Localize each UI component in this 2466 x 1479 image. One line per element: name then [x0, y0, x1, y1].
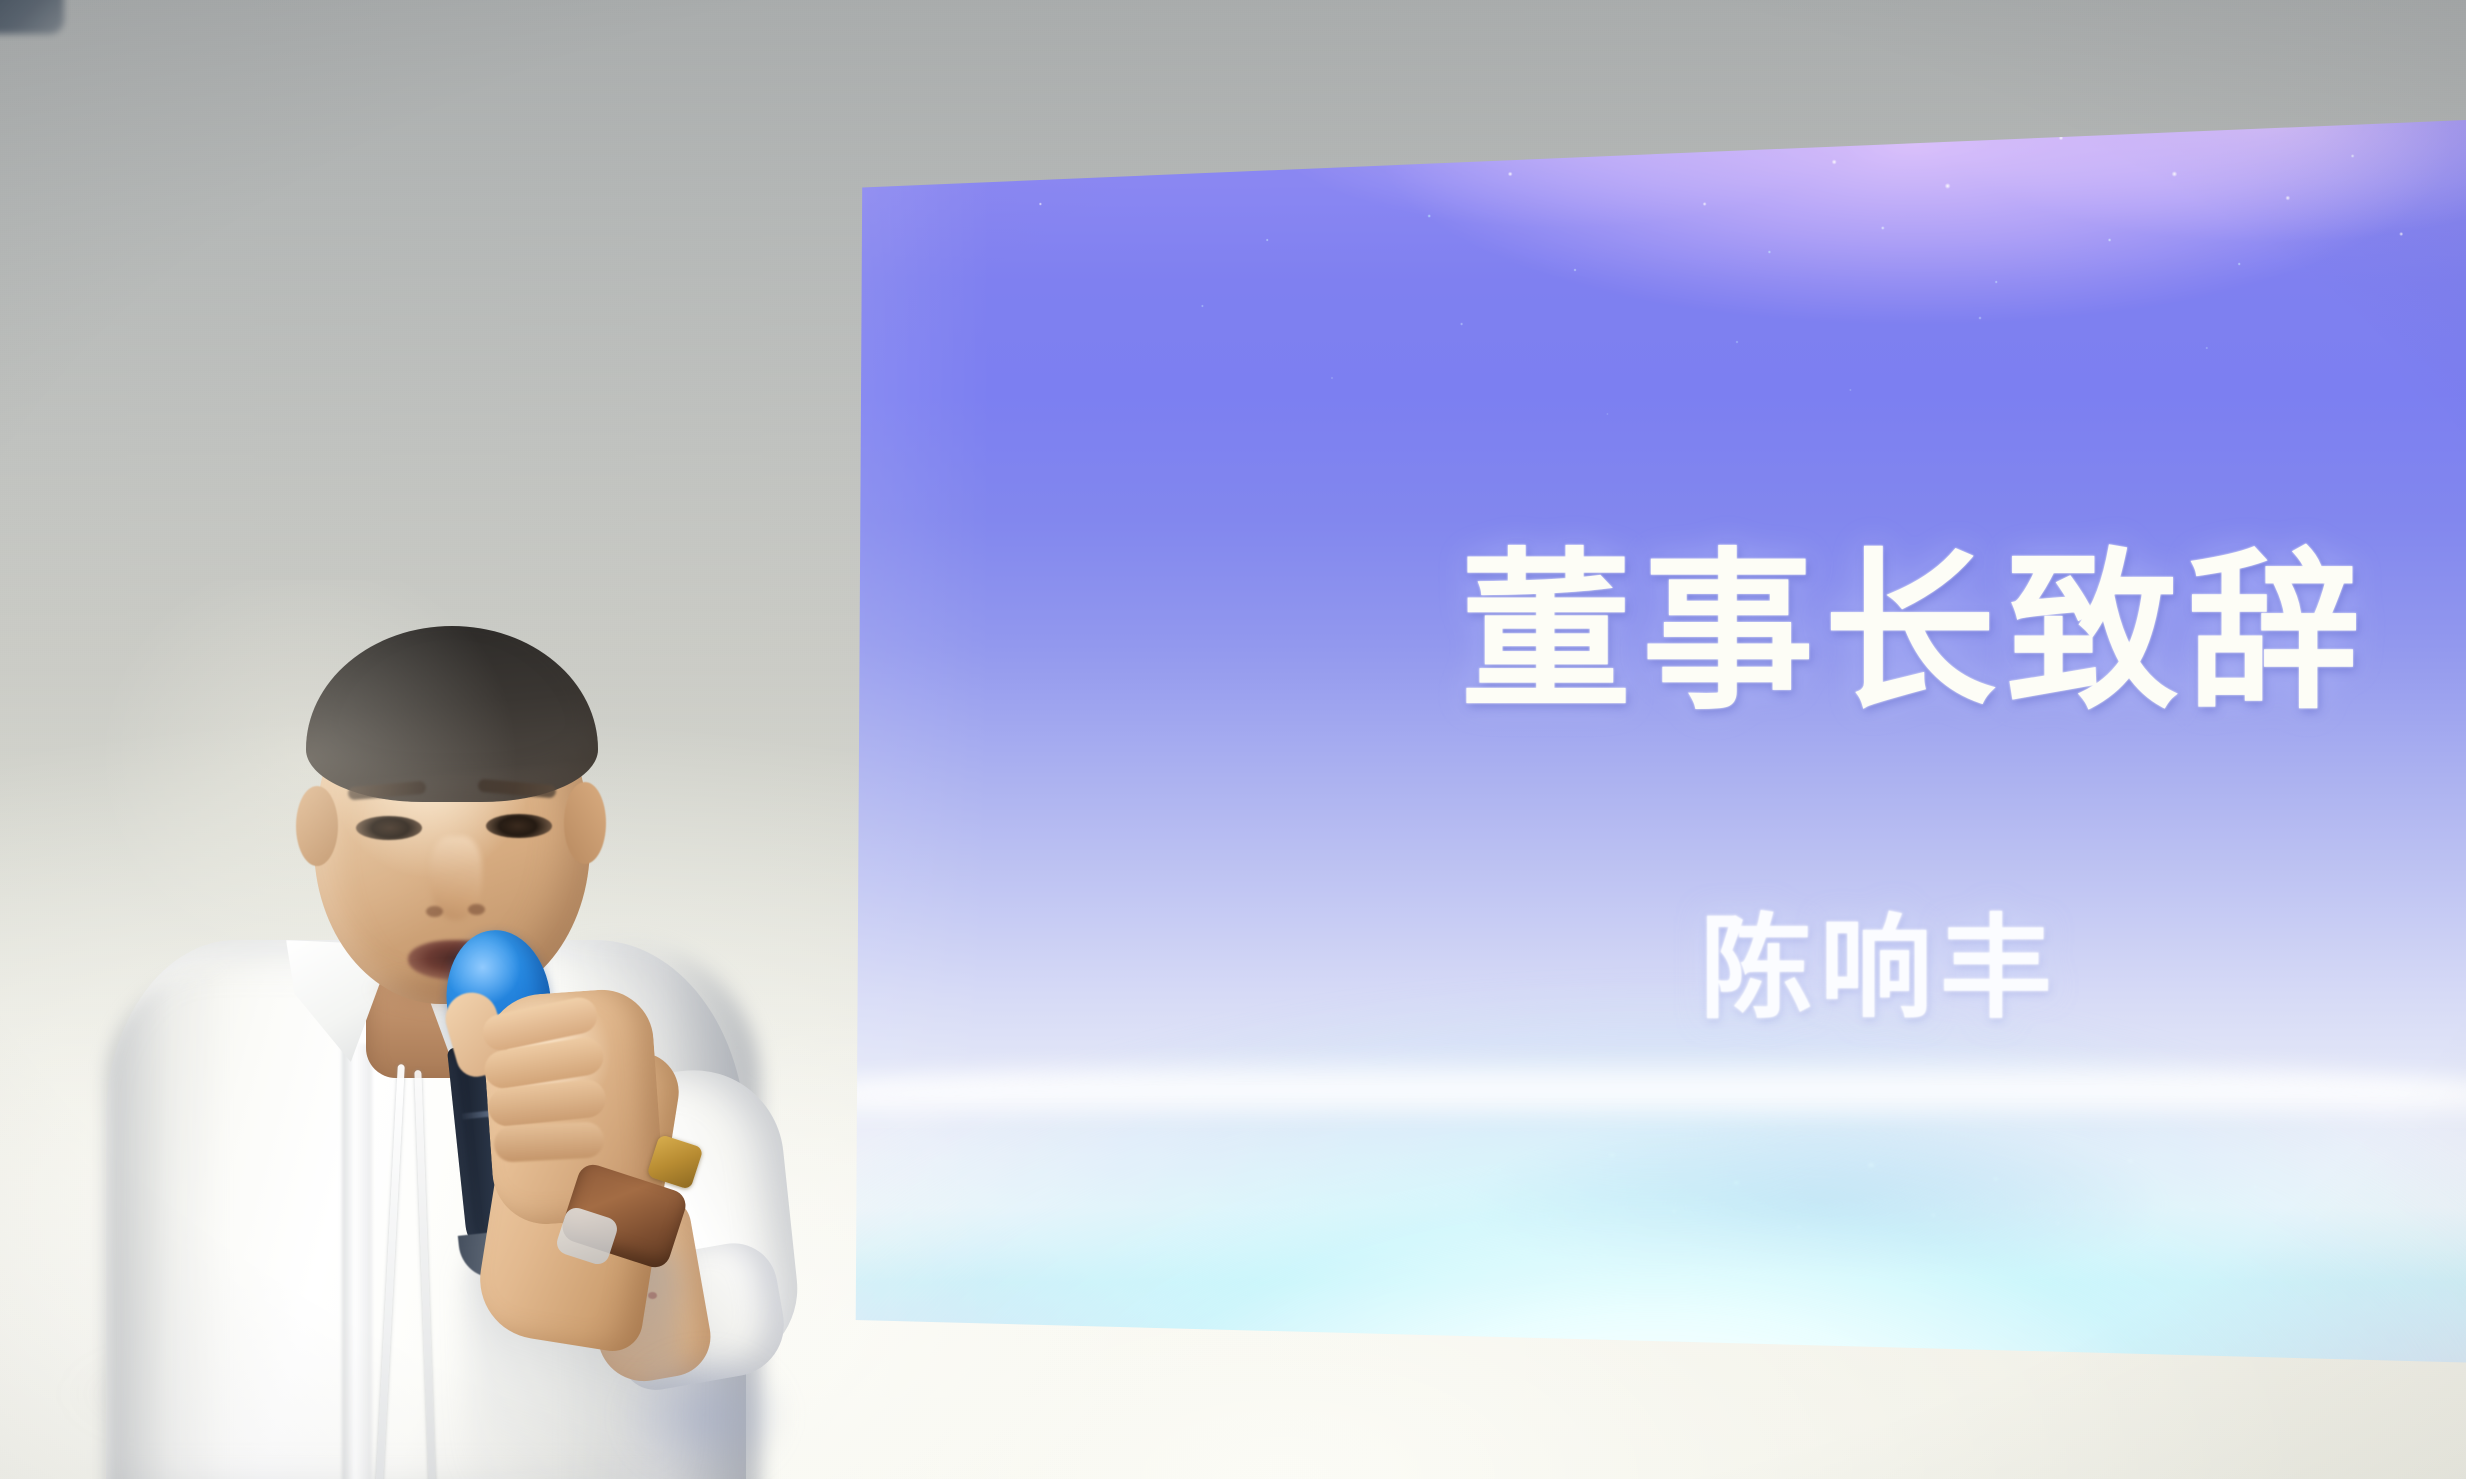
- nostril-right: [468, 904, 485, 915]
- speaker-figure: [90, 640, 810, 1479]
- shirt-shadow-left: [106, 970, 226, 1479]
- finger-little: [493, 1121, 605, 1163]
- hair: [306, 626, 598, 802]
- nostril-left: [426, 906, 443, 917]
- ceiling-fixture-icon: [0, 0, 64, 34]
- ear-left: [296, 786, 338, 866]
- shirt-placket: [342, 1044, 372, 1479]
- slide-title: 董事长致辞: [1460, 542, 2440, 724]
- shirt-blue-reflection: [610, 1340, 800, 1479]
- ear-right: [564, 782, 606, 864]
- eye-right: [486, 814, 552, 838]
- presentation-photo: 董事长致辞 陈响丰: [0, 0, 2466, 1479]
- eye-left: [356, 816, 422, 840]
- projection-screen: [846, 120, 2466, 1370]
- slide-subtitle-speaker-name: 陈响丰: [1700, 908, 2400, 1031]
